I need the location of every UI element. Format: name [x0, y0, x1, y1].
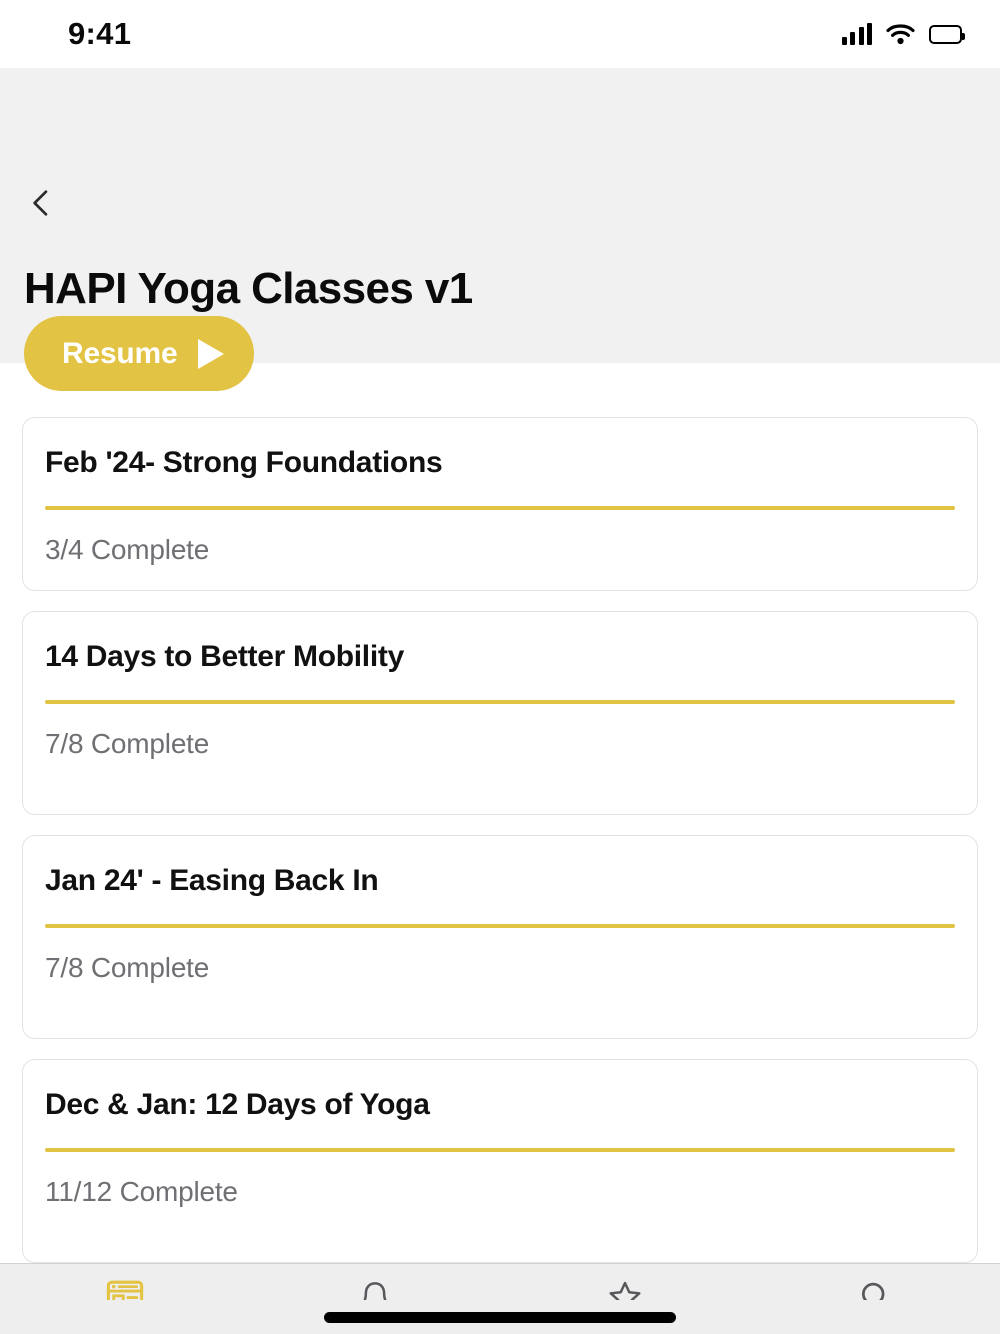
course-card[interactable]: Dec & Jan: 12 Days of Yoga 11/12 Complet… [22, 1059, 978, 1263]
page-title: HAPI Yoga Classes v1 [24, 264, 473, 314]
play-icon [198, 339, 224, 369]
course-progress-label: 11/12 Complete [45, 1176, 955, 1208]
status-icons [842, 23, 963, 45]
resume-button-label: Resume [62, 337, 178, 371]
chevron-left-icon [24, 186, 58, 220]
course-card[interactable]: Feb '24- Strong Foundations 3/4 Complete [22, 417, 978, 591]
battery-full-icon [929, 25, 962, 44]
course-progress-bar [45, 700, 955, 704]
course-card[interactable]: 14 Days to Better Mobility 7/8 Complete [22, 611, 978, 815]
app-screen: 9:41 HAPI Yoga Classes v1 Resume [0, 0, 1000, 1334]
back-button[interactable] [18, 180, 64, 226]
resume-button[interactable]: Resume [24, 316, 254, 391]
course-list: Feb '24- Strong Foundations 3/4 Complete… [22, 363, 978, 1263]
home-indicator-area [0, 1300, 1000, 1334]
cellular-signal-icon [842, 23, 873, 45]
status-time: 9:41 [68, 16, 131, 52]
course-progress-label: 3/4 Complete [45, 534, 955, 566]
course-progress-label: 7/8 Complete [45, 728, 955, 760]
course-progress-bar [45, 506, 955, 510]
course-progress-bar [45, 1148, 955, 1152]
course-title: Dec & Jan: 12 Days of Yoga [45, 1088, 955, 1122]
course-title: Feb '24- Strong Foundations [45, 446, 955, 480]
home-indicator-bar[interactable] [324, 1312, 676, 1323]
wifi-icon [886, 23, 915, 45]
content-area: Resume Feb '24- Strong Foundations 3/4 C… [0, 363, 1000, 1263]
course-progress-label: 7/8 Complete [45, 952, 955, 984]
status-bar: 9:41 [0, 0, 1000, 68]
course-progress-bar [45, 924, 955, 928]
course-card[interactable]: Jan 24' - Easing Back In 7/8 Complete [22, 835, 978, 1039]
course-title: 14 Days to Better Mobility [45, 640, 955, 674]
course-title: Jan 24' - Easing Back In [45, 864, 955, 898]
